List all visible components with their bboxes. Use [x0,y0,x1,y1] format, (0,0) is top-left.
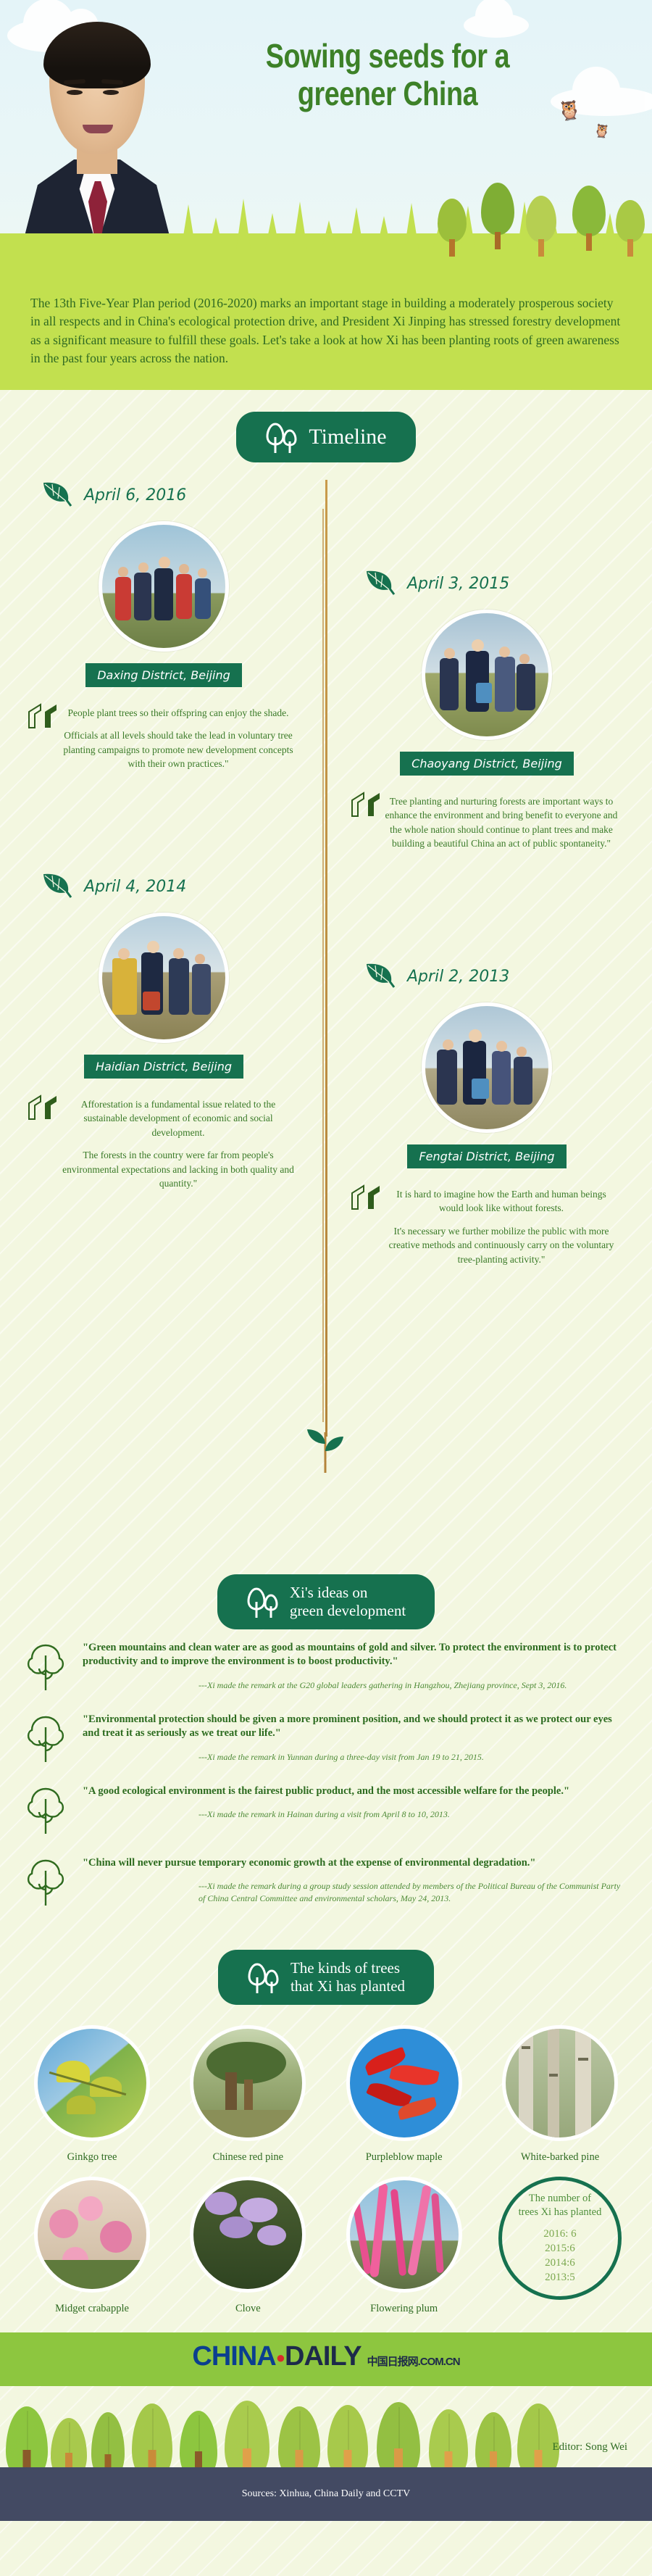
cloud-icon [464,13,529,38]
tree-kinds-row: Ginkgo tree Chinese red pine [25,2025,627,2164]
timeline-section-header: Timeline [0,390,652,462]
timeline-event: April 4, 2014 Haidian District, Beijing [19,871,309,1200]
tree-kind-item: Chinese red pine [180,2025,315,2164]
tree-kind-item: Flowering plum [337,2177,472,2315]
quote-part: People plant trees so their offspring ca… [61,706,296,720]
timeline-event-date: April 2, 2013 [407,968,509,986]
tree-outline-icon [25,1784,71,1837]
two-trees-icon [246,1586,280,1618]
timeline-event-date: April 6, 2016 [84,486,186,504]
tree-count-circle: The number of trees Xi has planted 2016:… [498,2177,622,2300]
tree-kind-label: Clove [180,2303,315,2315]
intro-paragraph: The 13th Five-Year Plan period (2016-202… [0,275,652,390]
idea-item: "Green mountains and clean water are as … [25,1641,627,1694]
quote-part: Tree planting and nurturing forests are … [384,794,619,851]
idea-source: ---Xi made the remark at the G20 global … [198,1679,627,1692]
tree-kind-item: Clove [180,2177,315,2315]
sources-credit: Sources: Xinhua, China Daily and CCTV [0,2467,652,2521]
timeline-badge: Timeline [236,412,415,462]
quote-mark-icon [28,1094,59,1121]
idea-source: ---Xi made the remark in Yunnan during a… [198,1751,627,1763]
timeline-event-date: April 4, 2014 [84,878,186,896]
quote-part: It is hard to imagine how the Earth and … [384,1187,619,1216]
leaf-icon [364,568,396,599]
two-trees-icon [265,421,298,453]
timeline-event-date-row: April 6, 2016 [19,480,309,511]
tree-kind-item: Ginkgo tree [25,2025,159,2164]
tree-count-year: 2013:5 [543,2270,576,2285]
timeline-event-quote: People plant trees so their offspring ca… [19,706,309,771]
tree-count-heading: The number of trees Xi has planted [519,2192,602,2219]
ideas-title-line1: Xi's ideas on [290,1584,406,1602]
tree-icon [438,199,467,242]
idea-quote: "A good ecological environment is the fa… [83,1784,627,1799]
tree-kind-photo [502,2025,618,2141]
leaf-icon [364,961,396,992]
idea-quote: "China will never pursue temporary econo… [83,1856,627,1871]
tree-icon [526,196,556,242]
timeline-title: Timeline [309,425,386,449]
ideas-badge: Xi's ideas on green development [217,1574,435,1629]
ideas-list: "Green mountains and clean water are as … [0,1637,652,1909]
ideas-title-line2: green development [290,1602,406,1620]
footer: CHINA●DAILY中国日报网.COM.CN [0,2332,652,2521]
tree-kind-label: Purpleblow maple [337,2151,472,2164]
brand-china: CHINA [192,2341,275,2372]
timeline-event-photo [99,521,229,652]
brand-chinese: 中国日报网 [367,2356,418,2368]
quote-part: Officials at all levels should take the … [61,728,296,771]
timeline-event-photo [422,610,552,740]
timeline-event-location: Haidian District, Beijing [84,1055,243,1079]
hero-header: Sowing seeds for a greener China 🦉 🦉 [0,0,652,275]
tree-kind-photo [346,2177,462,2293]
tree-count-years: 2016: 6 2015:6 2014:6 2013:5 [543,2227,576,2285]
tree-count-year: 2016: 6 [543,2227,576,2241]
tree-kind-item: Midget crabapple [25,2177,159,2315]
two-trees-icon [247,1961,280,1993]
kinds-title: The kinds of trees that Xi has planted [291,1959,405,1995]
tree-outline-icon [25,1713,71,1766]
tree-kinds: Ginkgo tree Chinese red pine [0,2005,652,2315]
tree-kind-label: Flowering plum [337,2303,472,2315]
quote-part: The forests in the country were far from… [61,1148,296,1191]
quote-mark-icon [351,792,383,818]
page-title: Sowing seeds for a greener China [248,38,527,112]
idea-item: "China will never pursue temporary econo… [25,1856,627,1909]
footer-trees [0,2373,652,2482]
idea-quote: "Environmental protection should be give… [83,1713,627,1741]
timeline: April 6, 2016 Daxing District, Beijing [0,480,652,1553]
timeline-event: April 2, 2013 Fengtai District, Beijing [342,961,632,1276]
timeline-event: April 3, 2015 Chaoyang District, Beijing [342,568,632,860]
leaf-icon [41,871,72,902]
timeline-event-quote: It is hard to imagine how the Earth and … [342,1187,632,1267]
tree-kind-label: Chinese red pine [180,2151,315,2164]
sprout-icon [303,1422,348,1476]
timeline-event-photo [422,1002,552,1133]
tree-kind-label: White-barked pine [493,2151,627,2164]
tree-kind-photo [34,2177,150,2293]
brand-dot-icon: ● [276,2348,285,2367]
bird-icon: 🦉 [593,124,611,138]
timeline-event-quote: Tree planting and nurturing forests are … [342,794,632,851]
timeline-axis [322,509,324,1422]
timeline-event-location: Chaoyang District, Beijing [400,752,574,776]
tree-kind-label: Ginkgo tree [25,2151,159,2164]
tree-icon [481,183,514,235]
tree-count-year: 2015:6 [543,2241,576,2256]
kinds-title-line1: The kinds of trees [291,1959,405,1977]
idea-source: ---Xi made the remark in Hainan during a… [198,1808,627,1821]
timeline-event-date-row: April 2, 2013 [342,961,632,992]
kinds-badge: The kinds of trees that Xi has planted [218,1950,434,2005]
quote-mark-icon [28,703,59,729]
page-title-line2: greener China [248,75,527,113]
ideas-title: Xi's ideas on green development [290,1584,406,1620]
tree-count-year: 2014:6 [543,2256,576,2270]
quote-mark-icon [351,1184,383,1210]
tree-count-item: The number of trees Xi has planted 2016:… [493,2177,627,2315]
timeline-event-date-row: April 4, 2014 [19,871,309,902]
timeline-event: April 6, 2016 Daxing District, Beijing [19,480,309,780]
idea-item: "Environmental protection should be give… [25,1713,627,1766]
tree-kind-item: Purpleblow maple [337,2025,472,2164]
tree-kind-label: Midget crabapple [25,2303,159,2315]
tree-kind-photo [190,2025,306,2141]
timeline-event-date-row: April 3, 2015 [342,568,632,599]
idea-quote: "Green mountains and clean water are as … [83,1641,627,1669]
timeline-event-location: Daxing District, Beijing [85,663,242,687]
brand-daily: DAILY [285,2341,361,2372]
timeline-event-date: April 3, 2015 [407,575,509,593]
grass-decoration [0,188,652,275]
quote-part: Afforestation is a fundamental issue rel… [61,1097,296,1140]
tree-kind-item: White-barked pine [493,2025,627,2164]
tree-kind-photo [34,2025,150,2141]
timeline-event-photo [99,913,229,1043]
timeline-event-location: Fengtai District, Beijing [407,1144,566,1168]
tree-kind-photo [346,2025,462,2141]
tree-kinds-row: Midget crabapple Clove [25,2177,627,2315]
kinds-title-line2: that Xi has planted [291,1977,405,1995]
kinds-section-header: The kinds of trees that Xi has planted [0,1928,652,2005]
tree-outline-icon [25,1856,71,1909]
timeline-axis [325,480,327,1437]
idea-source: ---Xi made the remark during a group stu… [198,1880,627,1905]
tree-outline-icon [25,1641,71,1694]
idea-item: "A good ecological environment is the fa… [25,1784,627,1837]
tree-count-heading-line1: The number of [519,2192,602,2206]
bird-icon: 🦉 [556,100,582,122]
tree-kind-photo [190,2177,306,2293]
tree-icon [616,200,645,242]
chinadaily-logo[interactable]: CHINA●DAILY中国日报网.COM.CN [0,2341,652,2372]
timeline-event-quote: Afforestation is a fundamental issue rel… [19,1097,309,1191]
editor-credit: Editor: Song Wei [552,2441,627,2454]
quote-part: It's necessary we further mobilize the p… [384,1224,619,1267]
tree-icon [572,186,606,236]
tree-count-heading-line2: trees Xi has planted [519,2206,602,2219]
ideas-section-header: Xi's ideas on green development [0,1553,652,1629]
leaf-icon [41,480,72,511]
brand-domain: .COM.CN [418,2356,460,2368]
infographic-page: Sowing seeds for a greener China 🦉 🦉 [0,0,652,2576]
page-title-line1: Sowing seeds for a [248,38,527,75]
